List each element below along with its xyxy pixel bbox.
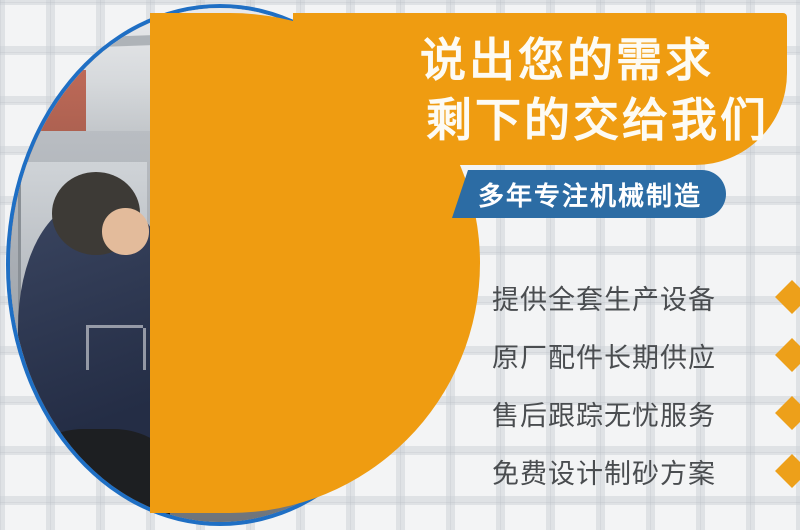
- promo-banner: ZOONYE ZhongYiKuangJi 说出您的需求 剩下的交给我们 多年专…: [0, 0, 800, 530]
- headline-line-2: 剩下的交给我们: [420, 90, 790, 150]
- feature-label: 原厂配件长期供应: [492, 336, 716, 375]
- feature-item: 售后跟踪无忧服务: [492, 384, 792, 442]
- feature-bullet: [780, 285, 800, 309]
- feature-item: 提供全套生产设备: [492, 268, 792, 326]
- headline: 说出您的需求 剩下的交给我们: [420, 30, 790, 150]
- photo-person-left-face: [102, 208, 148, 254]
- feature-bullet: [780, 459, 800, 483]
- photo-chair: [27, 429, 170, 522]
- feature-label: 售后跟踪无忧服务: [492, 394, 716, 433]
- feature-list: 提供全套生产设备 原厂配件长期供应 售后跟踪无忧服务 免费设计制砂方案: [492, 268, 792, 500]
- headline-line-1: 说出您的需求: [420, 30, 790, 90]
- feature-label: 提供全套生产设备: [492, 278, 716, 317]
- feature-item: 原厂配件长期供应: [492, 326, 792, 384]
- feature-label: 免费设计制砂方案: [492, 452, 716, 491]
- feature-bullet: [780, 343, 800, 367]
- watermark-logo-icon: [86, 325, 143, 370]
- diamond-icon: [775, 338, 800, 372]
- subtitle-text: 多年专注机械制造: [478, 170, 728, 218]
- feature-bullet: [780, 401, 800, 425]
- diamond-icon: [775, 454, 800, 488]
- diamond-icon: [775, 396, 800, 430]
- diamond-icon: [775, 280, 800, 314]
- feature-item: 免费设计制砂方案: [492, 442, 792, 500]
